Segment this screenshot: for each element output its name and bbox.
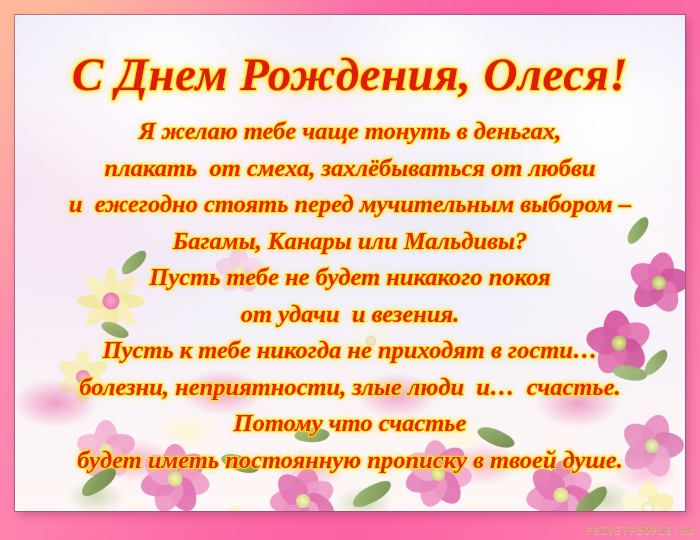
verse-line: болезни, неприятности, злые люди и… счас… [15,370,685,407]
site-watermark: PRIVETPEOPLE.RU [586,524,694,537]
verse-line: Багамы, Канары или Мальдивы? [15,224,685,261]
verse-line: плакать от смеха, захлёбываться от любви [15,151,685,188]
verse-line: будет иметь постоянную прописку в твоей … [15,443,685,480]
card-inner-panel: С Днем Рождения, Олеся! Я желаю тебе чащ… [15,15,685,511]
verse-line: от удачи и везения. [15,297,685,334]
verse-line: Пусть к тебе никогда не приходят в гости… [15,333,685,370]
card-verse: Я желаю тебе чаще тонуть в деньгах, плак… [15,100,685,479]
greeting-card: С Днем Рождения, Олеся! Я желаю тебе чащ… [0,0,700,540]
verse-line: и ежегодно стоять перед мучительным выбо… [15,187,685,224]
verse-line: Я желаю тебе чаще тонуть в деньгах, [15,114,685,151]
card-title: С Днем Рождения, Олеся! [15,15,685,100]
verse-line: Пусть тебе не будет никакого покоя [15,260,685,297]
verse-line: Потому что счастье [15,406,685,443]
card-text-content: С Днем Рождения, Олеся! Я желаю тебе чащ… [15,15,685,511]
